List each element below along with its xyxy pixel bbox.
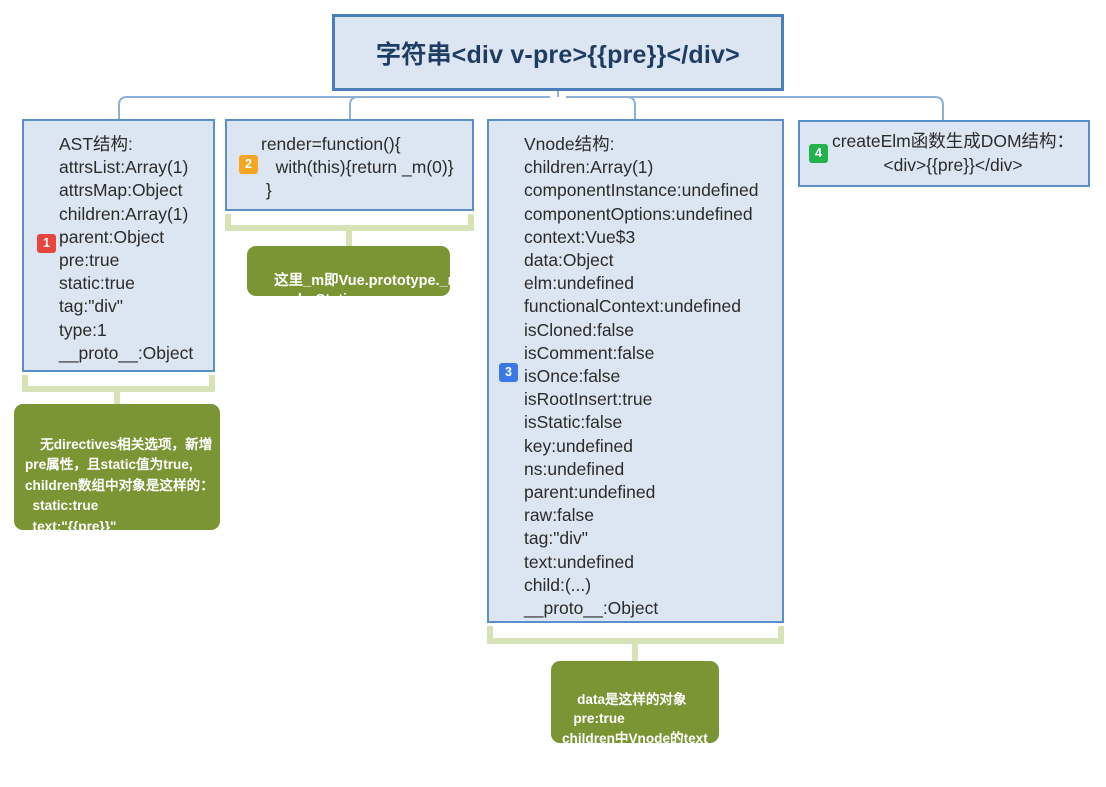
connector-to-render: [350, 97, 550, 119]
note-vnode-data: data是这样的对象 pre:true children中Vnode的text …: [551, 661, 719, 743]
diagram-canvas: 字符串<div v-pre>{{pre}}</div> AST结构: attrs…: [0, 0, 1106, 760]
connector-to-ast: [119, 97, 550, 119]
connector-to-vnode: [566, 97, 635, 119]
note-render-static-text: 这里_m即Vue.prototype._m = renderStatic: [258, 273, 461, 308]
title-box: 字符串<div v-pre>{{pre}}</div>: [332, 14, 784, 91]
vnode-structure-box: Vnode结构: children:Array(1) componentInst…: [487, 119, 784, 623]
badge-3: 3: [499, 363, 518, 382]
vnode-structure-text: Vnode结构: children:Array(1) componentInst…: [489, 133, 782, 620]
bracket-ast-note: [25, 375, 212, 389]
note-ast-children: 无directives相关选项，新增 pre属性，且static值为true, …: [14, 404, 220, 530]
render-function-box: render=function(){ with(this){return _m(…: [225, 119, 474, 211]
badge-1: 1: [37, 234, 56, 253]
note-render-static: 这里_m即Vue.prototype._m = renderStatic: [247, 246, 450, 296]
connector-to-createelm: [566, 97, 943, 120]
bracket-render-note: [228, 214, 471, 228]
createelm-dom-box: createElm函数生成DOM结构： <div>{{pre}}</div>: [798, 120, 1090, 187]
render-function-text: render=function(){ with(this){return _m(…: [227, 133, 472, 203]
badge-4: 4: [809, 144, 828, 163]
createelm-dom-text: createElm函数生成DOM结构： <div>{{pre}}</div>: [814, 130, 1074, 176]
note-ast-children-text: 无directives相关选项，新增 pre属性，且static值为true, …: [25, 437, 214, 555]
note-vnode-data-text: data是这样的对象 pre:true children中Vnode的text …: [562, 692, 708, 766]
title-text: 字符串<div v-pre>{{pre}}</div>: [376, 35, 740, 71]
bracket-vnode-note: [490, 626, 781, 641]
badge-2: 2: [239, 155, 258, 174]
